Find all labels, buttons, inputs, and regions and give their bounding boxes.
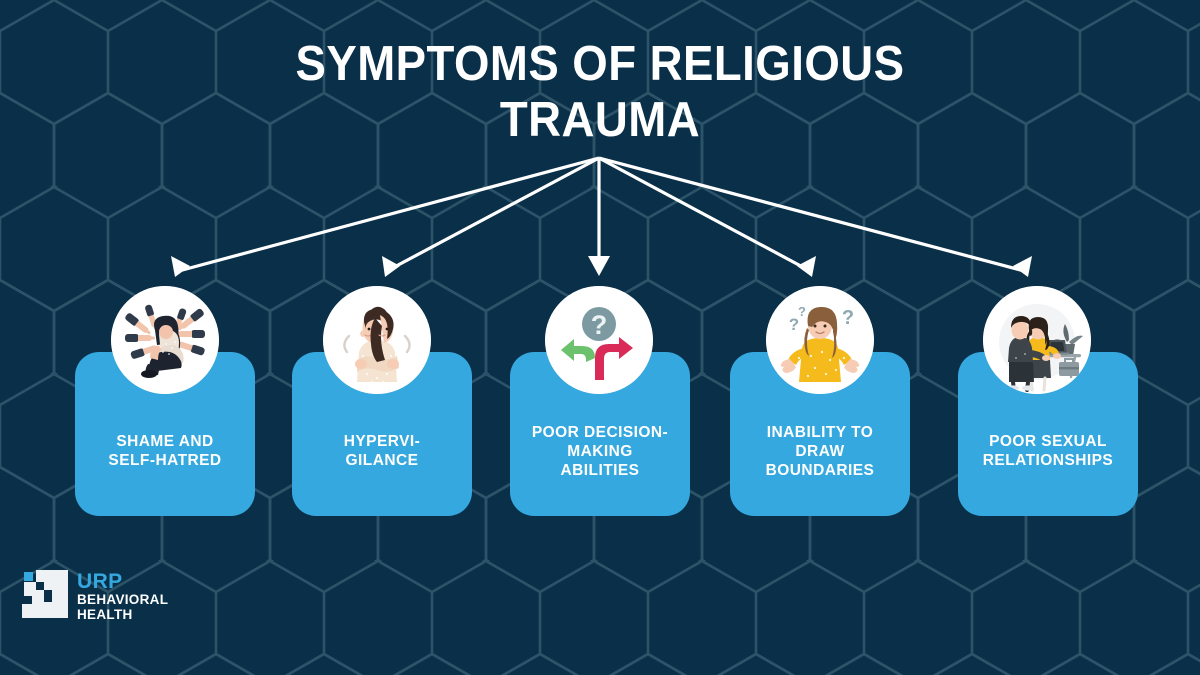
arrow-head-3 [588, 256, 610, 276]
urp-square-mark-icon [22, 570, 68, 618]
hypervigilance-two-faces-icon [323, 286, 431, 394]
brand-logo[interactable]: URP BEHAVIORAL HEALTH [22, 570, 168, 622]
shame-pointing-fingers-icon [111, 286, 219, 394]
arrow-line-4 [599, 158, 812, 272]
page-title-line-1: SYMPTOMS OF RELIGIOUS [42, 36, 1158, 92]
icon-circle-inability-to-draw-boundaries: ? ? ? [766, 286, 874, 394]
logo-line-behavioral: BEHAVIORAL [77, 592, 168, 607]
icon-circle-poor-decision-making-abilities: ? [545, 286, 653, 394]
arrow-line-2 [385, 158, 599, 272]
page-title: SYMPTOMS OF RELIGIOUS TRAUMA [42, 36, 1158, 148]
icon-circle-shame-and-self-hatred [111, 286, 219, 394]
arrow-head-2 [382, 256, 400, 277]
icon-circle-hypervigilance [323, 286, 431, 394]
arrow-head-5 [1013, 256, 1032, 277]
card-label: SHAME AND SELF-HATRED [98, 432, 231, 470]
logo-brand-urp: URP [77, 572, 168, 592]
logo-wordmark: URP BEHAVIORAL HEALTH [77, 570, 168, 622]
arrow-line-1 [175, 158, 599, 272]
shrugging-woman-question-icon: ? ? ? [766, 286, 874, 394]
card-label: INABILITY TO DRAW BOUNDARIES [756, 423, 885, 480]
arrow-head-4 [797, 256, 816, 277]
svg-text:?: ? [591, 310, 608, 340]
page-title-line-2: TRAUMA [42, 92, 1158, 148]
card-label: POOR DECISION- MAKING ABILITIES [522, 423, 678, 480]
svg-text:?: ? [798, 304, 806, 319]
icon-circle-poor-sexual-relationships [983, 286, 1091, 394]
arrow-head-1 [171, 256, 190, 277]
svg-text:?: ? [842, 307, 854, 329]
card-label: HYPERVI- GILANCE [334, 432, 431, 470]
infographic-canvas: SYMPTOMS OF RELIGIOUS TRAUMA SHAME AND S… [0, 0, 1200, 675]
card-label: POOR SEXUAL RELATIONSHIPS [973, 432, 1123, 470]
logo-line-health: HEALTH [77, 607, 168, 622]
arrow-line-5 [599, 158, 1028, 272]
workplace-harassment-icon [983, 286, 1091, 394]
decision-fork-question-icon: ? [545, 286, 653, 394]
